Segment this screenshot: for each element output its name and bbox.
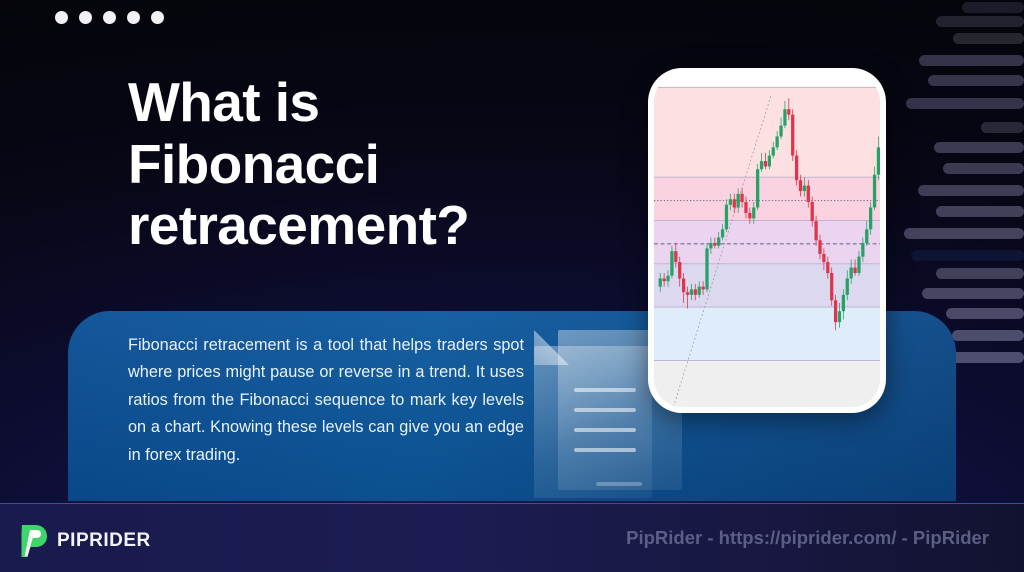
- document-text-line-4: [574, 448, 636, 452]
- decorative-bar-2: [936, 16, 1024, 27]
- title-line-1: What is: [128, 71, 319, 133]
- dot-row-decoration: [55, 11, 164, 24]
- document-text-line-5: [596, 482, 642, 486]
- chart-footer-area: [654, 360, 880, 407]
- title-line-2: Fibonacci: [128, 133, 379, 195]
- decorative-bar-9: [943, 163, 1024, 174]
- fib-band-5: [654, 307, 880, 360]
- dot-1: [55, 11, 68, 24]
- document-text-line-1: [574, 388, 636, 392]
- decorative-bar-11: [936, 206, 1024, 217]
- title-line-3: retracement?: [128, 194, 469, 256]
- piprider-logo-icon: [18, 524, 48, 558]
- decorative-bar-16: [946, 308, 1024, 319]
- page-title: What is Fibonacci retracement?: [128, 72, 648, 257]
- candle-45: [830, 268, 833, 306]
- footer-url-text: PipRider - https://piprider.com/ - PipRi…: [626, 527, 989, 549]
- slide-canvas: What is Fibonacci retracement? Fibonacci…: [0, 0, 1024, 572]
- chart-card: [648, 68, 886, 413]
- candle-13: [705, 243, 708, 292]
- decorative-bar-5: [928, 75, 1024, 86]
- decorative-bar-15: [922, 288, 1024, 299]
- decorative-bar-8: [934, 142, 1024, 153]
- candle-35: [791, 109, 794, 161]
- dot-4: [127, 11, 140, 24]
- document-text-line-2: [574, 408, 636, 412]
- brand-name: PIPRIDER: [57, 530, 151, 552]
- decorative-bar-10: [918, 185, 1024, 196]
- decorative-bar-17: [952, 330, 1024, 341]
- document-text-line-3: [574, 428, 636, 432]
- fib-band-2: [654, 177, 880, 220]
- candle-26: [756, 164, 759, 210]
- decorative-bar-7: [981, 122, 1024, 133]
- body-paragraph: Fibonacci retracement is a tool that hel…: [128, 332, 524, 469]
- footer-bar: PIPRIDER PipRider - https://piprider.com…: [0, 503, 1024, 572]
- decorative-bar-12: [904, 228, 1024, 239]
- candlestick-chart: [654, 74, 880, 407]
- decorative-bar-13: [911, 250, 1024, 261]
- decorative-bar-1: [962, 2, 1024, 13]
- decorative-bar-3: [953, 33, 1024, 44]
- decorative-bar-6: [906, 98, 1024, 109]
- chart-viewport: [654, 74, 880, 407]
- brand-logo[interactable]: PIPRIDER: [18, 524, 151, 558]
- dot-3: [103, 11, 116, 24]
- dot-5: [151, 11, 164, 24]
- fib-band-3: [654, 221, 880, 264]
- decorative-bar-4: [919, 55, 1024, 66]
- decorative-bar-14: [936, 268, 1024, 279]
- dot-2: [79, 11, 92, 24]
